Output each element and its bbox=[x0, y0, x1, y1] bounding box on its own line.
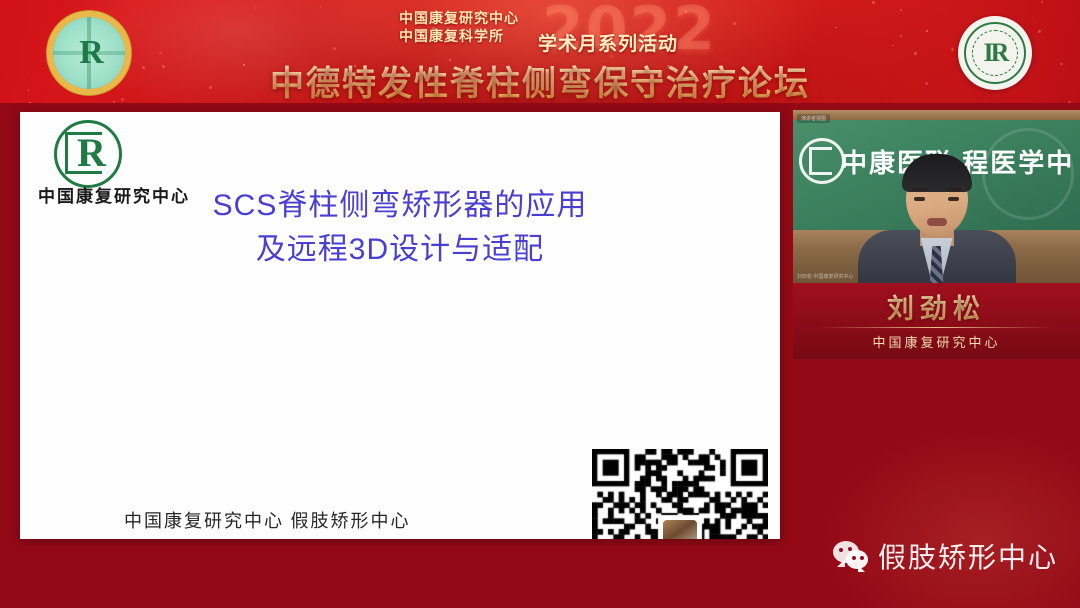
broadcast-stage: 2022 R IR 中国康复研究中心 中国康复科学所 学术月系列活动 中德特发性… bbox=[0, 0, 1080, 608]
wechat-account-name: 假肢矫形中心 bbox=[878, 536, 1058, 576]
wechat-dot-3 bbox=[852, 556, 856, 560]
banner-organizers: 中国康复研究中心 中国康复科学所 bbox=[399, 10, 519, 46]
wechat-watermark: 假肢矫形中心 bbox=[833, 536, 1058, 576]
speaker-brow-left bbox=[912, 188, 928, 191]
banner-forum-title: 中德特发性脊柱侧弯保守治疗论坛 bbox=[0, 56, 1080, 103]
wechat-bubble-small bbox=[846, 550, 868, 569]
affiliation-line-2: 首都医科大学 康复医学院 bbox=[124, 538, 411, 539]
slide-title-line-2: 及远程3D设计与适配 bbox=[20, 228, 780, 272]
qr-center-avatar bbox=[661, 518, 699, 539]
speaker-name-caption: 刘劲松 中国康复研究中心 bbox=[793, 283, 1080, 359]
speaker-eye-right bbox=[948, 197, 959, 201]
speaker-organization: 中国康复研究中心 bbox=[793, 332, 1080, 351]
speaker-portrait bbox=[872, 146, 1002, 283]
speaker-mouth bbox=[927, 218, 947, 226]
video-ceiling-trim bbox=[793, 110, 1080, 120]
background-glow bbox=[820, 428, 1080, 608]
organizer-line-1: 中国康复研究中心 bbox=[399, 10, 519, 28]
speaker-eye-left bbox=[914, 197, 925, 201]
speaker-name: 刘劲松 bbox=[793, 287, 1080, 326]
crc-logo-icon: R bbox=[54, 120, 122, 188]
video-badge: 演讲者视图 bbox=[797, 114, 830, 123]
slide-title-line-1: SCS脊柱侧弯矫形器的应用 bbox=[20, 184, 780, 228]
affiliation-line-1: 中国康复研究中心 假肢矫形中心 bbox=[124, 504, 411, 538]
slide-affiliation: 中国康复研究中心 假肢矫形中心 首都医科大学 康复医学院 刘劲松 bbox=[124, 504, 411, 539]
organizer-line-2: 中国康复科学所 bbox=[399, 28, 519, 46]
speaker-brow-right bbox=[946, 188, 962, 191]
backdrop-logo-icon bbox=[799, 138, 845, 184]
caption-divider bbox=[819, 327, 1054, 328]
wechat-dot-1 bbox=[839, 548, 843, 552]
wechat-dot-2 bbox=[848, 547, 852, 551]
wechat-dot-4 bbox=[860, 556, 864, 560]
qr-code[interactable] bbox=[592, 449, 768, 539]
crc-logo-monogram: R bbox=[77, 129, 106, 176]
speaker-video-feed[interactable]: 中康医联 程医学中 演讲者视图 刘劲松 中国康复研究中心 bbox=[793, 110, 1080, 283]
speaker-hair bbox=[902, 154, 972, 192]
event-banner: 2022 R IR 中国康复研究中心 中国康复科学所 学术月系列活动 中德特发性… bbox=[0, 0, 1080, 103]
slide-title: SCS脊柱侧弯矫形器的应用 及远程3D设计与适配 bbox=[20, 184, 780, 271]
banner-series-label: 学术月系列活动 bbox=[538, 29, 678, 56]
presentation-slide: R 中国康复研究中心 SCS脊柱侧弯矫形器的应用 及远程3D设计与适配 中国康复… bbox=[20, 112, 780, 539]
wechat-icon bbox=[833, 541, 869, 571]
video-footer-label: 刘劲松 中国康复研究中心 bbox=[797, 273, 853, 280]
